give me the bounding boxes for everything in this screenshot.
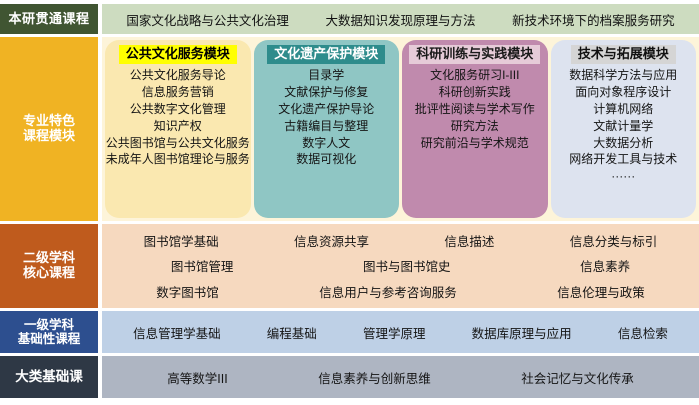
core-course-line: 图书馆管理 图书与图书馆史 信息素养 [106, 253, 695, 278]
module-title: 公共文化服务模块 [119, 45, 237, 64]
course-item[interactable]: 图书馆管理 [171, 256, 234, 275]
row-body-specialty-modules: 公共文化服务模块 公共文化服务导论 信息服务营销 公共数字文化管理 知识产权 公… [102, 37, 699, 221]
row-body-secondary-discipline-core: 图书馆学基础 信息资源共享 信息描述 信息分类与标引 图书馆管理 图书与图书馆史… [102, 224, 699, 308]
row-body-integrated-curriculum: 国家文化战略与公共文化治理 大数据知识发现原理与方法 新技术环境下的档案服务研究 [102, 4, 699, 34]
module-course-list: 目录学 文献保护与修复 文化遗产保护导论 古籍编目与整理 数字人文 数据可视化 [256, 68, 398, 168]
row-label-text: 二级学科 核心课程 [23, 251, 75, 281]
module-title: 科研训练与实践模块 [409, 45, 540, 64]
course-item[interactable]: 文化遗产保护导论 [278, 102, 374, 118]
row-body-primary-discipline-foundation: 信息管理学基础 编程基础 管理学原理 数据库原理与应用 信息检索 [102, 311, 699, 353]
course-item[interactable]: 图书馆学基础 [144, 231, 219, 250]
course-item[interactable]: 数据可视化 [296, 152, 356, 168]
row-body-general-foundation: 高等数学III 信息素养与创新思维 社会记忆与文化传承 [102, 356, 699, 398]
course-item[interactable]: 大数据分析 [593, 136, 653, 152]
course-item[interactable]: 公共图书馆与公共文化服务 [106, 136, 250, 152]
module-title: 技术与拓展模块 [571, 45, 676, 64]
row-label-line1: 一级学科 [24, 318, 74, 332]
course-item[interactable]: 数据库原理与应用 [472, 323, 572, 342]
course-item[interactable]: 大数据知识发现原理与方法 [325, 10, 475, 29]
module-card-cultural-heritage-protection[interactable]: 文化遗产保护模块 目录学 文献保护与修复 文化遗产保护导论 古籍编目与整理 数字… [254, 40, 400, 218]
course-item[interactable]: 数字人文 [302, 136, 350, 152]
row-label-text: 专业特色 课程模块 [23, 114, 75, 144]
core-course-grid: 图书馆学基础 信息资源共享 信息描述 信息分类与标引 图书馆管理 图书与图书馆史… [106, 228, 695, 304]
course-item[interactable]: 信息素养与创新思维 [318, 368, 431, 387]
course-item[interactable]: 目录学 [308, 68, 344, 84]
course-item[interactable]: 信息伦理与政策 [557, 282, 645, 301]
row-integrated-curriculum: 本研贯通课程 国家文化战略与公共文化治理 大数据知识发现原理与方法 新技术环境下… [0, 4, 699, 34]
course-item[interactable]: 文献计量学 [593, 119, 653, 135]
row-label-specialty-modules: 专业特色 课程模块 [0, 37, 98, 221]
row-label-primary-discipline-foundation: 一级学科 基础性课程 [0, 311, 98, 353]
course-item[interactable]: 未成年人图书馆理论与服务 [106, 152, 250, 168]
course-item[interactable]: 研究前沿与学术规范 [421, 136, 529, 152]
curriculum-diagram: 本研贯通课程 国家文化战略与公共文化治理 大数据知识发现原理与方法 新技术环境下… [0, 0, 699, 405]
row-label-secondary-discipline-core: 二级学科 核心课程 [0, 224, 98, 308]
row-label-general-foundation: 大类基础课 [0, 356, 98, 398]
row-label-text: 本研贯通课程 [8, 12, 89, 27]
row-label-integrated-curriculum: 本研贯通课程 [0, 4, 98, 34]
module-card-public-culture-service[interactable]: 公共文化服务模块 公共文化服务导论 信息服务营销 公共数字文化管理 知识产权 公… [105, 40, 251, 218]
course-item[interactable]: 面向对象程序设计 [575, 85, 671, 101]
row-label-line2: 核心课程 [23, 265, 75, 280]
course-item[interactable]: 信息分类与标引 [570, 231, 658, 250]
course-item[interactable]: 研究方法 [451, 119, 499, 135]
row-label-line2: 课程模块 [23, 128, 75, 143]
course-item[interactable]: 古籍编目与整理 [284, 119, 368, 135]
course-item[interactable]: 信息检索 [618, 323, 668, 342]
course-item[interactable]: 文献保护与修复 [284, 85, 368, 101]
course-item[interactable]: 信息资源共享 [294, 231, 369, 250]
course-item[interactable]: 信息服务营销 [142, 85, 214, 101]
course-item[interactable]: 计算机网络 [593, 102, 653, 118]
course-item[interactable]: 信息用户与参考咨询服务 [319, 282, 457, 301]
row-general-foundation: 大类基础课 高等数学III 信息素养与创新思维 社会记忆与文化传承 [0, 356, 699, 398]
row-secondary-discipline-core: 二级学科 核心课程 图书馆学基础 信息资源共享 信息描述 信息分类与标引 图书馆… [0, 224, 699, 308]
course-item[interactable]: 新技术环境下的档案服务研究 [512, 10, 675, 29]
row-label-text: 大类基础课 [15, 369, 83, 385]
course-item[interactable]: 信息描述 [444, 231, 494, 250]
module-card-research-training-practice[interactable]: 科研训练与实践模块 文化服务研习I-III 科研创新实践 批评性阅读与学术写作 … [402, 40, 548, 218]
row-specialty-modules: 专业特色 课程模块 公共文化服务模块 公共文化服务导论 信息服务营销 公共数字文… [0, 37, 699, 221]
module-course-list: 公共文化服务导论 信息服务营销 公共数字文化管理 知识产权 公共图书馆与公共文化… [107, 68, 249, 168]
course-item[interactable]: 社会记忆与文化传承 [521, 368, 634, 387]
module-title: 文化遗产保护模块 [267, 45, 385, 64]
course-item[interactable]: 管理学原理 [363, 323, 426, 342]
row-label-line2: 基础性课程 [18, 332, 81, 346]
module-course-list: 文化服务研习I-III 科研创新实践 批评性阅读与学术写作 研究方法 研究前沿与… [404, 68, 546, 151]
row-label-line1: 专业特色 [23, 113, 75, 128]
course-item[interactable]: 公共文化服务导论 [130, 68, 226, 84]
course-item[interactable]: 信息素养 [580, 256, 630, 275]
row-label-text: 一级学科 基础性课程 [18, 318, 81, 347]
course-item[interactable]: 知识产权 [154, 119, 202, 135]
course-item[interactable]: 文化服务研习I-III [430, 68, 519, 84]
course-item[interactable]: 公共数字文化管理 [130, 102, 226, 118]
module-card-technology-extension[interactable]: 技术与拓展模块 数据科学方法与应用 面向对象程序设计 计算机网络 文献计量学 大… [551, 40, 697, 218]
module-course-list: 数据科学方法与应用 面向对象程序设计 计算机网络 文献计量学 大数据分析 网络开… [553, 68, 695, 185]
course-item[interactable]: 数字图书馆 [156, 282, 219, 301]
row-label-line1: 二级学科 [23, 250, 75, 265]
core-course-line: 图书馆学基础 信息资源共享 信息描述 信息分类与标引 [106, 228, 695, 253]
course-item[interactable]: 批评性阅读与学术写作 [415, 102, 535, 118]
course-item[interactable]: 国家文化战略与公共文化治理 [126, 10, 289, 29]
course-item[interactable]: 数据科学方法与应用 [569, 68, 677, 84]
course-item[interactable]: 编程基础 [267, 323, 317, 342]
course-item[interactable]: 高等数学III [167, 368, 227, 387]
course-item[interactable]: 图书与图书馆史 [363, 256, 451, 275]
row-primary-discipline-foundation: 一级学科 基础性课程 信息管理学基础 编程基础 管理学原理 数据库原理与应用 信… [0, 311, 699, 353]
course-item[interactable]: 网络开发工具与技术 [569, 152, 677, 168]
core-course-line: 数字图书馆 信息用户与参考咨询服务 信息伦理与政策 [106, 279, 695, 304]
course-item[interactable]: 信息管理学基础 [133, 323, 221, 342]
course-list-ellipsis: ······ [611, 169, 635, 185]
course-item[interactable]: 科研创新实践 [439, 85, 511, 101]
